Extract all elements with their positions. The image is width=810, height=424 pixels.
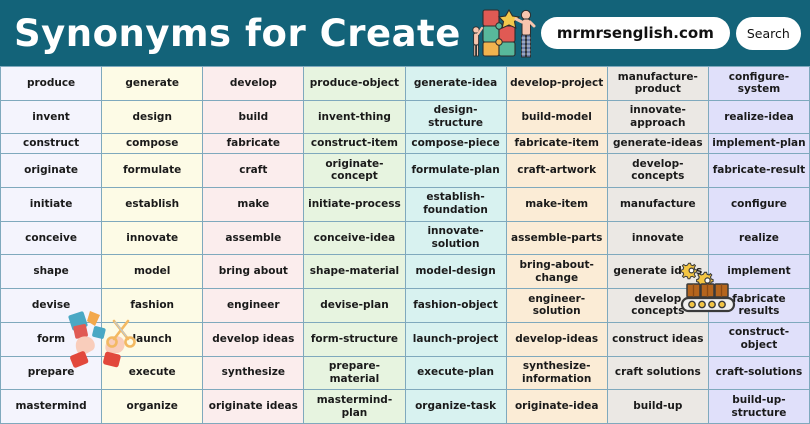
synonyms-table-body: produce generate develop produce-object … <box>1 67 810 424</box>
synonym-cell: develop <box>203 67 304 101</box>
synonym-cell: formulate-plan <box>405 154 506 188</box>
synonym-cell: bring about <box>203 255 304 289</box>
table-row: mastermind organize originate ideas mast… <box>1 390 810 424</box>
synonyms-table-area: produce generate develop produce-object … <box>0 66 810 424</box>
synonym-cell: compose <box>102 134 203 154</box>
synonym-cell: organize <box>102 390 203 424</box>
table-row: prepare execute synthesize prepare-mater… <box>1 356 810 390</box>
page-title: Synonyms for Create <box>14 15 461 52</box>
synonym-cell: engineer <box>203 289 304 323</box>
synonym-cell: produce <box>1 67 102 101</box>
table-row: initiate establish make initiate-process… <box>1 187 810 221</box>
synonym-cell: generate-ideas <box>607 134 708 154</box>
synonym-cell: develop-concepts <box>607 154 708 188</box>
synonym-cell: manufacture-product <box>607 67 708 101</box>
synonym-cell: launch <box>102 322 203 356</box>
synonym-cell: conceive <box>1 221 102 255</box>
synonym-cell: construct ideas <box>607 322 708 356</box>
synonym-cell: conceive-idea <box>304 221 405 255</box>
synonym-cell: make-item <box>506 187 607 221</box>
synonym-cell: construct <box>1 134 102 154</box>
table-row: produce generate develop produce-object … <box>1 67 810 101</box>
synonym-cell: synthesize <box>203 356 304 390</box>
synonym-cell: fabricate <box>203 134 304 154</box>
table-row: shape model bring about shape-material m… <box>1 255 810 289</box>
synonym-cell: configure <box>708 187 809 221</box>
synonym-cell: shape <box>1 255 102 289</box>
synonym-cell: model-design <box>405 255 506 289</box>
page-header: Synonyms for Create <box>0 0 810 66</box>
synonym-cell: devise <box>1 289 102 323</box>
synonym-cell: model <box>102 255 203 289</box>
synonym-cell: build-model <box>506 100 607 134</box>
synonym-cell: innovate-approach <box>607 100 708 134</box>
synonym-cell: assemble-parts <box>506 221 607 255</box>
puzzle-people-icon <box>471 4 541 62</box>
synonym-cell: mastermind-plan <box>304 390 405 424</box>
synonym-cell: fabricate-item <box>506 134 607 154</box>
synonym-cell: realize-idea <box>708 100 809 134</box>
synonym-cell: fashion <box>102 289 203 323</box>
synonym-cell: configure-system <box>708 67 809 101</box>
synonym-cell: initiate-process <box>304 187 405 221</box>
synonym-cell: prepare <box>1 356 102 390</box>
synonym-cell: bring-about-change <box>506 255 607 289</box>
synonym-cell: establish <box>102 187 203 221</box>
search-button[interactable]: Search <box>736 17 801 50</box>
synonym-cell: craft-solutions <box>708 356 809 390</box>
table-row: construct compose fabricate construct-it… <box>1 134 810 154</box>
synonym-cell: craft solutions <box>607 356 708 390</box>
synonym-cell: assemble <box>203 221 304 255</box>
synonym-cell: establish-foundation <box>405 187 506 221</box>
synonym-cell: manufacture <box>607 187 708 221</box>
synonym-cell: implement-plan <box>708 134 809 154</box>
synonym-cell: implement <box>708 255 809 289</box>
synonym-cell: originate ideas <box>203 390 304 424</box>
synonym-cell: shape-material <box>304 255 405 289</box>
synonym-cell: organize-task <box>405 390 506 424</box>
synonym-cell: originate-idea <box>506 390 607 424</box>
synonym-cell: prepare-material <box>304 356 405 390</box>
table-row: originate formulate craft originate-conc… <box>1 154 810 188</box>
synonym-cell: design <box>102 100 203 134</box>
synonym-cell: generate ideas <box>607 255 708 289</box>
synonym-cell: build <box>203 100 304 134</box>
synonym-cell: craft <box>203 154 304 188</box>
synonym-cell: form <box>1 322 102 356</box>
synonym-cell: construct-item <box>304 134 405 154</box>
synonym-cell: execute <box>102 356 203 390</box>
synonym-cell: build-up-structure <box>708 390 809 424</box>
synonym-cell: mastermind <box>1 390 102 424</box>
synonym-cell: develop concepts <box>607 289 708 323</box>
synonym-cell: construct-object <box>708 322 809 356</box>
synonym-cell: make <box>203 187 304 221</box>
synonym-cell: synthesize-information <box>506 356 607 390</box>
synonym-cell: innovate-solution <box>405 221 506 255</box>
synonym-cell: develop-ideas <box>506 322 607 356</box>
synonym-cell: realize <box>708 221 809 255</box>
synonym-cell: fashion-object <box>405 289 506 323</box>
table-row: devise fashion engineer devise-plan fash… <box>1 289 810 323</box>
table-row: invent design build invent-thing design-… <box>1 100 810 134</box>
synonym-cell: generate <box>102 67 203 101</box>
synonym-cell: devise-plan <box>304 289 405 323</box>
synonym-cell: originate-concept <box>304 154 405 188</box>
synonym-cell: engineer-solution <box>506 289 607 323</box>
site-url-label[interactable]: mrmrsenglish.com <box>541 17 730 49</box>
synonyms-table: produce generate develop produce-object … <box>0 66 810 424</box>
synonym-cell: compose-piece <box>405 134 506 154</box>
synonym-cell: generate-idea <box>405 67 506 101</box>
synonym-cell: execute-plan <box>405 356 506 390</box>
page-root: Synonyms for Create <box>0 0 810 424</box>
table-row: form launch develop ideas form-structure… <box>1 322 810 356</box>
synonym-cell: produce-object <box>304 67 405 101</box>
synonym-cell: innovate <box>607 221 708 255</box>
synonym-cell: develop ideas <box>203 322 304 356</box>
synonym-cell: craft-artwork <box>506 154 607 188</box>
synonym-cell: initiate <box>1 187 102 221</box>
table-row: conceive innovate assemble conceive-idea… <box>1 221 810 255</box>
synonym-cell: form-structure <box>304 322 405 356</box>
synonym-cell: invent-thing <box>304 100 405 134</box>
synonym-cell: fabricate results <box>708 289 809 323</box>
synonym-cell: launch-project <box>405 322 506 356</box>
synonym-cell: originate <box>1 154 102 188</box>
search-area: mrmrsenglish.com Search <box>541 17 805 50</box>
synonym-cell: innovate <box>102 221 203 255</box>
synonym-cell: design-structure <box>405 100 506 134</box>
synonym-cell: build-up <box>607 390 708 424</box>
synonym-cell: fabricate-result <box>708 154 809 188</box>
synonym-cell: develop-project <box>506 67 607 101</box>
synonym-cell: formulate <box>102 154 203 188</box>
synonym-cell: invent <box>1 100 102 134</box>
